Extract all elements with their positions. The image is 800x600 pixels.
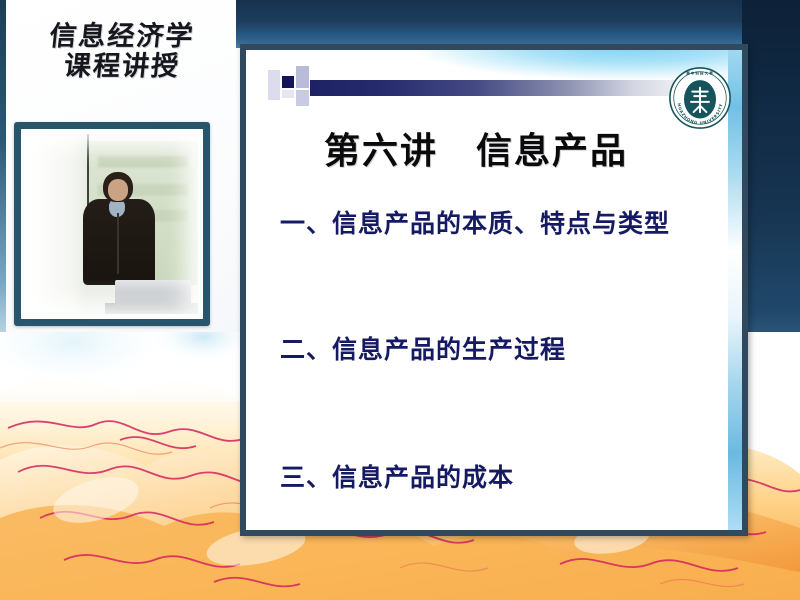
course-title: 信息经济学 课程讲授: [16, 22, 228, 82]
decor-gradient-bar: [310, 80, 706, 96]
course-title-line-1: 信息经济学: [14, 22, 229, 52]
lecturer-video-panel[interactable]: [14, 122, 210, 326]
slide-capture-stage: 信息经济学 课程讲授: [0, 0, 800, 600]
university-logo-icon: 華中科技大學 HUAZHONG UNIVERSITY: [668, 66, 732, 130]
slide-bullet-1: 一、信息产品的本质、特点与类型: [280, 204, 728, 240]
slide-canvas: 華中科技大學 HUAZHONG UNIVERSITY 第六讲 信息产品 一、信息…: [246, 50, 742, 530]
svg-text:華中科技大學: 華中科技大學: [686, 70, 714, 75]
video-scene: [26, 134, 198, 314]
decor-square-navy: [282, 76, 294, 88]
decor-square-lavender-lower: [296, 90, 309, 106]
presentation-slide: 華中科技大學 HUAZHONG UNIVERSITY 第六讲 信息产品 一、信息…: [240, 44, 748, 536]
slide-bullet-2: 二、信息产品的生产过程: [280, 330, 728, 366]
video-inner-mat: [21, 129, 203, 319]
background-left-stripe: [0, 0, 6, 352]
video-vignette: [26, 134, 198, 314]
slide-bullet-3: 三、信息产品的成本: [280, 458, 728, 494]
decor-square-pale-tall: [268, 70, 280, 100]
decor-square-faint: [282, 90, 294, 98]
course-title-line-2: 课程讲授: [14, 52, 229, 82]
slide-title: 第六讲 信息产品: [246, 122, 742, 174]
decor-square-lavender-upper: [296, 66, 309, 88]
slide-decor-motif: [268, 66, 708, 112]
background-blue-top-band: [236, 0, 800, 48]
slide-bullet-list: 一、信息产品的本质、特点与类型 二、信息产品的生产过程 三、信息产品的成本: [280, 190, 728, 494]
